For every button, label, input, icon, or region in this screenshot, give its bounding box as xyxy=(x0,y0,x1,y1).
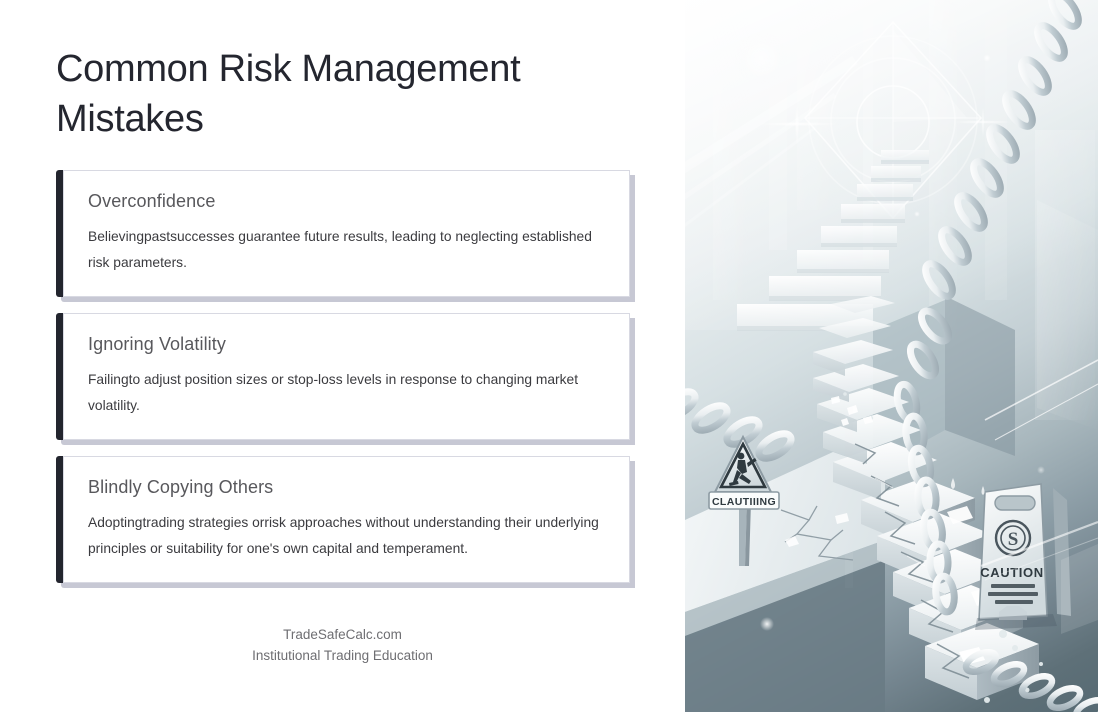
mistake-card: Blindly Copying Others Adoptingtrading s… xyxy=(56,456,630,583)
card-heading: Overconfidence xyxy=(88,189,607,213)
page-title: Common Risk Management Mistakes xyxy=(56,44,616,144)
card-accent-bar xyxy=(56,456,63,583)
card-description: Believingpastsuccesses guarantee future … xyxy=(88,224,607,276)
card-heading: Blindly Copying Others xyxy=(88,475,607,499)
footer-site: TradeSafeCalc.com xyxy=(0,624,685,645)
mistake-card-list: Overconfidence Believingpastsuccesses gu… xyxy=(56,170,630,599)
mistake-card: Overconfidence Believingpastsuccesses gu… xyxy=(56,170,630,297)
card-accent-bar xyxy=(56,313,63,440)
card-body: Blindly Copying Others Adoptingtrading s… xyxy=(63,456,630,583)
card-accent-bar xyxy=(56,170,63,297)
footer: TradeSafeCalc.com Institutional Trading … xyxy=(0,624,685,666)
triangle-sign-text: CLAUTIIING xyxy=(712,496,776,508)
illustration-panel: CLAUTIIING S CAUTION xyxy=(685,0,1098,712)
aframe-sign-emblem: S xyxy=(1008,529,1019,550)
aframe-sign-sublines xyxy=(988,584,1038,604)
card-body: Overconfidence Believingpastsuccesses gu… xyxy=(63,170,630,297)
content-panel: Common Risk Management Mistakes Overconf… xyxy=(0,0,685,712)
mistake-card: Ignoring Volatility Failingto adjust pos… xyxy=(56,313,630,440)
aframe-caution-sign: S CAUTION xyxy=(975,484,1071,630)
footer-tagline: Institutional Trading Education xyxy=(0,645,685,666)
risk-illustration-graphic: CLAUTIIING S CAUTION xyxy=(685,0,1098,712)
card-body: Ignoring Volatility Failingto adjust pos… xyxy=(63,313,630,440)
slide-canvas: Common Risk Management Mistakes Overconf… xyxy=(0,0,1098,712)
card-heading: Ignoring Volatility xyxy=(88,332,607,356)
card-description: Adoptingtrading strategies orrisk approa… xyxy=(88,510,607,562)
card-description: Failingto adjust position sizes or stop-… xyxy=(88,367,607,419)
